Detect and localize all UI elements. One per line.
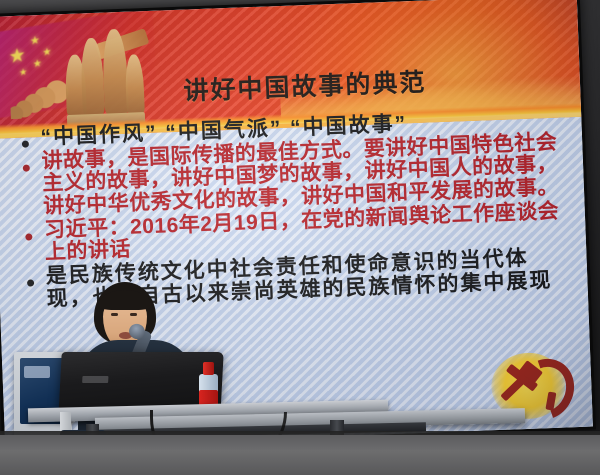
slide-body: “中国作风” “中国气派” “中国故事” 讲故事，是国际传播的最佳方式。要讲好中…	[15, 107, 568, 313]
projection-screen-frame: ★ ★ ★ ★ ★ 讲好中国故	[0, 0, 596, 452]
bullet-marker-icon	[27, 279, 34, 286]
cpc-party-emblem-icon	[490, 352, 566, 421]
lecture-scene: ★ ★ ★ ★ ★ 讲好中国故	[0, 0, 600, 475]
projection-screen: ★ ★ ★ ★ ★ 讲好中国故	[0, 0, 593, 449]
bullet-marker-icon	[23, 164, 30, 171]
bullet-marker-icon	[25, 233, 32, 240]
bullet-marker-icon	[22, 140, 29, 147]
